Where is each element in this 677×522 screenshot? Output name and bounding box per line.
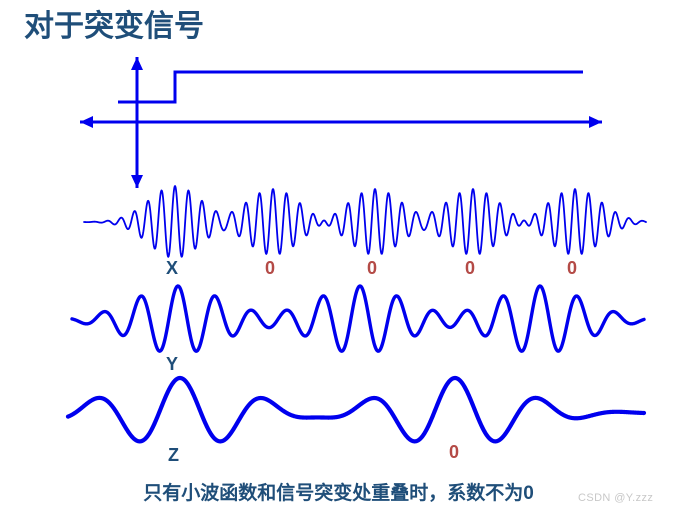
wavelet-label-3-2: 0 <box>449 443 459 461</box>
caption-text: 只有小波函数和信号突变处重叠时，系数不为0 <box>0 478 677 505</box>
row-3-low-frequency <box>68 378 644 441</box>
step-signal-path <box>118 72 583 102</box>
wavelet-label-1-2: 0 <box>265 259 275 277</box>
y-axis-down-arrow-icon <box>131 175 143 188</box>
wavelet-label-1-5: 0 <box>567 259 577 277</box>
x-axis-left-arrow-icon <box>80 116 93 128</box>
wavelet-rows <box>68 186 646 441</box>
wavelet-label-3-1: Z <box>168 446 179 464</box>
watermark: CSDN @Y.zzz <box>578 492 653 504</box>
row-1-high-frequency <box>84 186 646 257</box>
wavelet-label-1-4: 0 <box>465 259 475 277</box>
y-axis-up-arrow-icon <box>131 57 143 70</box>
wavelet-label-2-1: Y <box>166 355 178 373</box>
step-function-diagram <box>80 57 602 188</box>
wavelet-label-1-3: 0 <box>367 259 377 277</box>
x-axis-right-arrow-icon <box>589 116 602 128</box>
row-2-mid-frequency <box>72 286 644 351</box>
slide-canvas: 对于突变信号 X0000YZ0 只有小波函数和信号突变处重叠时，系数不为0 CS… <box>0 0 677 522</box>
wavelet-label-1-1: X <box>166 259 178 277</box>
